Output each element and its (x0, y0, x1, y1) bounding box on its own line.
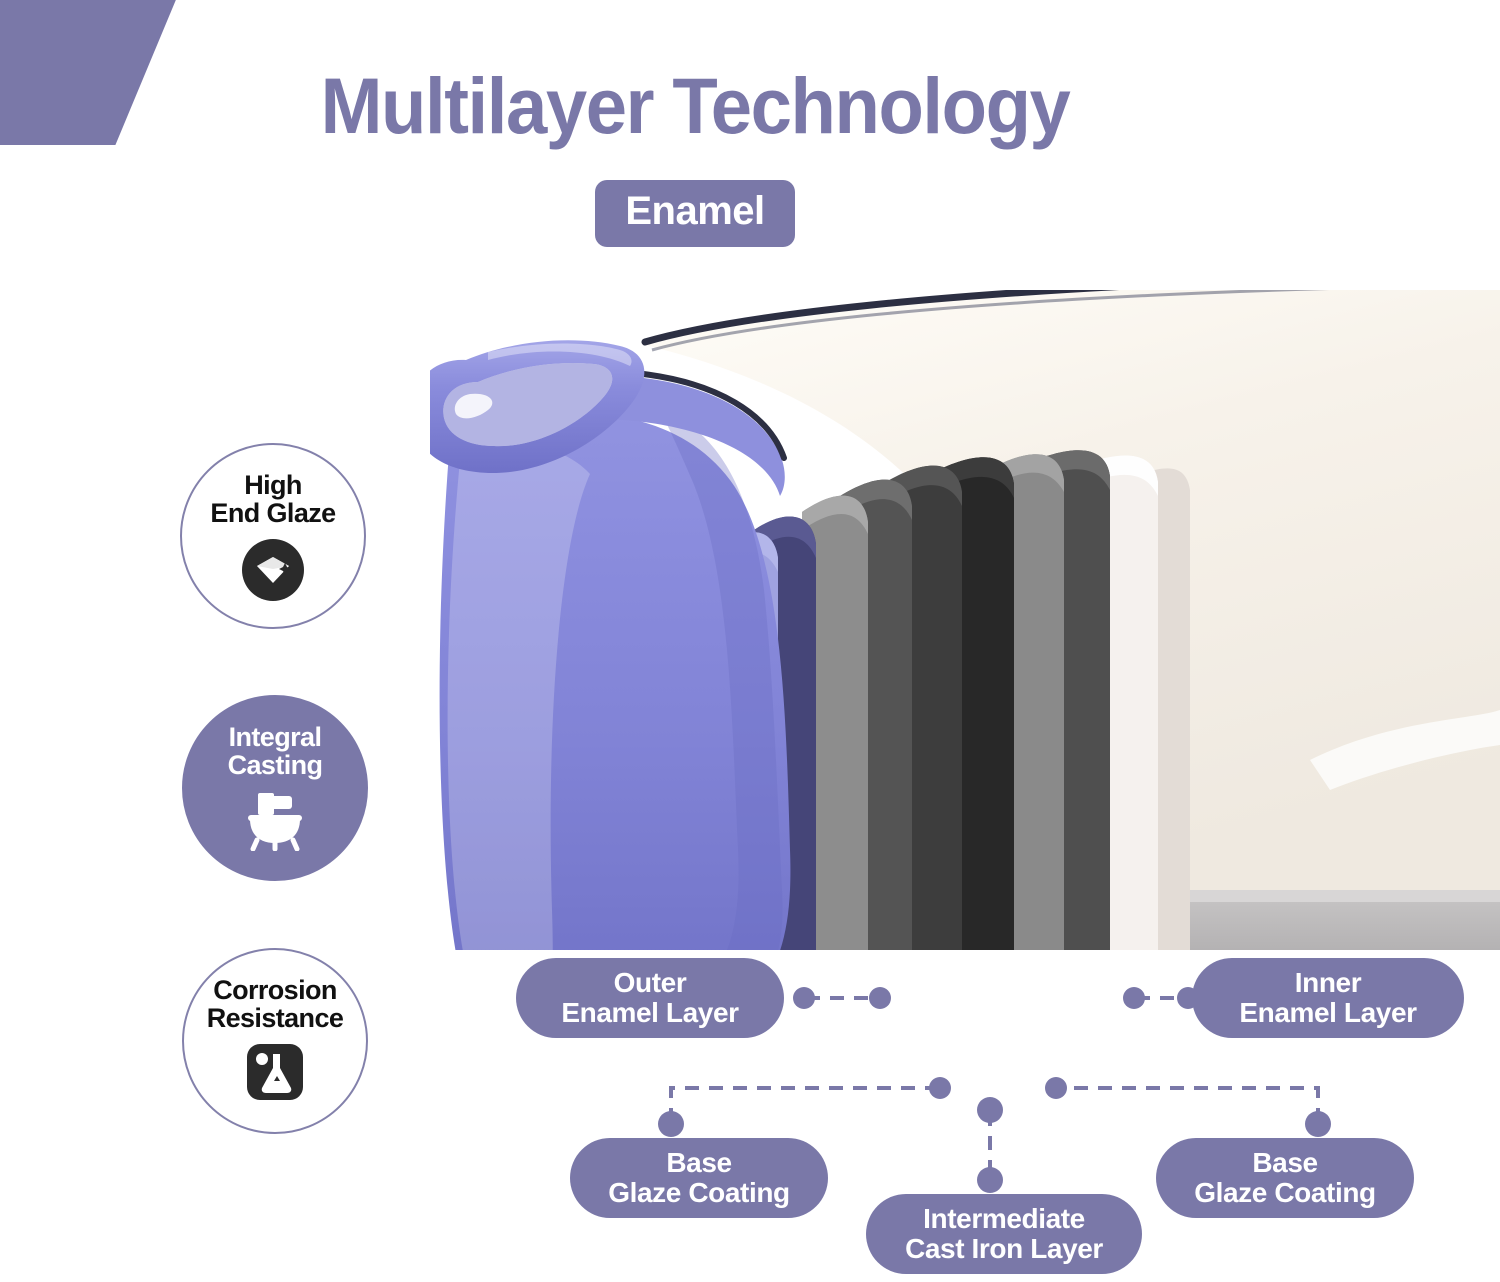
feature-badge-label: Integral Casting (228, 723, 323, 779)
subtitle-badge: Enamel (595, 180, 794, 247)
connector-dot-inter-b (977, 1167, 1003, 1193)
callout-outer-enamel-layer[interactable]: Outer Enamel Layer (516, 958, 784, 1038)
shelf-top-edge (1146, 890, 1500, 902)
infographic-canvas: Multilayer Technology Enamel (0, 0, 1500, 1282)
connector-dot-base-right-end (1045, 1077, 1067, 1099)
connector-dot-outer-b (869, 987, 891, 1009)
callout-intermediate-cast-iron-layer[interactable]: Intermediate Cast Iron Layer (866, 1194, 1142, 1274)
feature-badge-label: Corrosion Resistance (207, 976, 344, 1032)
cookware-cutaway-illustration (430, 290, 1500, 950)
callout-base-glaze-coating-left[interactable]: Base Glaze Coating (570, 1138, 828, 1218)
connector-dot-base-right (1305, 1111, 1331, 1137)
feature-badge-integral-casting[interactable]: Integral Casting (182, 695, 368, 881)
feature-badge-label: High End Glaze (210, 471, 335, 527)
connector-dot-inner-a (1123, 987, 1145, 1009)
subtitle-container: Enamel (0, 180, 1390, 247)
connector-base-right (1058, 1088, 1318, 1122)
feature-badge-corrosion-resistance[interactable]: Corrosion Resistance (182, 948, 368, 1134)
callout-inner-enamel-layer[interactable]: Inner Enamel Layer (1192, 958, 1464, 1038)
callout-base-glaze-coating-right[interactable]: Base Glaze Coating (1156, 1138, 1414, 1218)
connector-dot-outer-a (793, 987, 815, 1009)
connector-dot-inter-a (977, 1097, 1003, 1123)
feature-badge-high-end-glaze[interactable]: High End Glaze (180, 443, 366, 629)
diamond-gem-icon (242, 539, 304, 606)
page-title: Multilayer Technology (42, 66, 1349, 145)
connector-base-left (671, 1088, 938, 1122)
flask-icon (247, 1044, 303, 1105)
pot-svg (430, 290, 1500, 950)
cauldron-hammer-icon (242, 791, 308, 856)
connector-dot-base-left (658, 1111, 684, 1137)
connector-dot-base-left-end (929, 1077, 951, 1099)
